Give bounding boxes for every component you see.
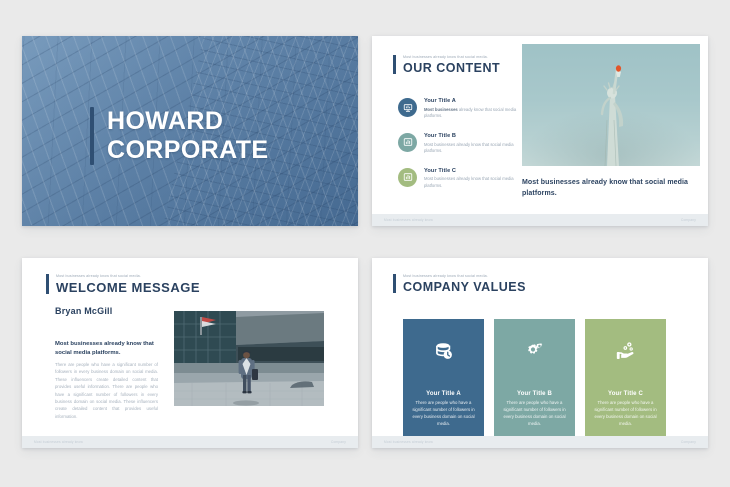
- slide-header: Most businesses already know that social…: [393, 55, 500, 74]
- presentation-chart-icon: [398, 98, 417, 117]
- list-item[interactable]: Your Title A Most businesses already kno…: [398, 98, 518, 120]
- value-card[interactable]: Your Title A There are people who have a…: [403, 319, 484, 438]
- feature-description: Most businesses already know that social…: [424, 107, 518, 120]
- title-accent-bar: [90, 107, 94, 165]
- gears-icon: [525, 341, 545, 361]
- person-name: Bryan McGill: [55, 306, 112, 316]
- feature-description: Most businesses already know that social…: [424, 142, 518, 155]
- list-item[interactable]: Your Title B Most businesses already kno…: [398, 133, 518, 155]
- header-eyebrow: Most businesses already know that social…: [403, 55, 500, 60]
- presentation-title: HOWARD CORPORATE: [107, 107, 268, 165]
- feature-title: Your Title B: [424, 133, 518, 140]
- header-eyebrow: Most businesses already know that social…: [403, 274, 526, 279]
- slide-footer: Most businesses already know Company: [22, 436, 358, 448]
- slide-deck-preview-board: HOWARD CORPORATE Most businesses already…: [0, 0, 730, 487]
- welcome-lead-text: Most businesses already know that social…: [55, 340, 160, 358]
- value-card-description: There are people who have a significant …: [501, 400, 568, 428]
- value-card-title: Your Title B: [501, 391, 568, 397]
- value-card[interactable]: Your Title B There are people who have a…: [494, 319, 575, 438]
- value-card-description: There are people who have a significant …: [592, 400, 659, 428]
- page-title: COMPANY VALUES: [403, 281, 526, 294]
- footer-left-text: Most businesses already know: [34, 440, 83, 444]
- slide-our-content[interactable]: Most businesses already know that social…: [372, 36, 708, 226]
- header-accent-bar: [393, 55, 396, 74]
- footer-right-text: Company: [331, 440, 346, 444]
- statue-of-liberty-photo: [522, 44, 700, 166]
- value-card-title: Your Title A: [410, 391, 477, 397]
- slide-header: Most businesses already know that social…: [46, 274, 200, 294]
- header-eyebrow: Most businesses already know that social…: [56, 274, 200, 279]
- footer-left-text: Most businesses already know: [384, 440, 433, 444]
- slide-title[interactable]: HOWARD CORPORATE: [22, 36, 358, 226]
- value-card[interactable]: Your Title C There are people who have a…: [585, 319, 666, 438]
- slide-company-values[interactable]: Most businesses already know that social…: [372, 258, 708, 448]
- page-title: OUR CONTENT: [403, 62, 500, 75]
- header-accent-bar: [46, 274, 49, 294]
- slide-footer: Most businesses already know Company: [372, 436, 708, 448]
- slide-welcome-message[interactable]: Most businesses already know that social…: [22, 258, 358, 448]
- value-card-description: There are people who have a significant …: [410, 400, 477, 428]
- footer-right-text: Company: [681, 440, 696, 444]
- title-block: HOWARD CORPORATE: [90, 107, 268, 165]
- footer-right-text: Company: [681, 218, 696, 222]
- feature-title: Your Title C: [424, 168, 518, 175]
- welcome-body-text: There are people who have a significant …: [55, 361, 158, 420]
- value-card-title: Your Title C: [592, 391, 659, 397]
- feature-list: Your Title A Most businesses already kno…: [398, 98, 518, 189]
- statue-figure: [583, 62, 639, 166]
- footer-left-text: Most businesses already know: [384, 218, 433, 222]
- feature-title: Your Title A: [424, 98, 518, 105]
- feature-description-strong: Most businesses: [424, 107, 459, 112]
- list-item[interactable]: Your Title C Most businesses already kno…: [398, 168, 518, 190]
- bar-chart-icon: [398, 168, 417, 187]
- feature-description: Most businesses already know that social…: [424, 176, 518, 189]
- slide-header: Most businesses already know that social…: [393, 274, 526, 293]
- businessman-photo: [174, 311, 324, 406]
- coin-stack-clock-icon: [434, 341, 454, 361]
- value-card-list: Your Title A There are people who have a…: [403, 319, 666, 438]
- slide-footer: Most businesses already know Company: [372, 214, 708, 226]
- slide-caption: Most businesses already know that social…: [522, 178, 694, 200]
- street-scene: [174, 311, 324, 406]
- hand-holding-coins-icon: [616, 341, 636, 361]
- header-accent-bar: [393, 274, 396, 293]
- bar-chart-icon: [398, 133, 417, 152]
- page-title: WELCOME MESSAGE: [56, 281, 200, 294]
